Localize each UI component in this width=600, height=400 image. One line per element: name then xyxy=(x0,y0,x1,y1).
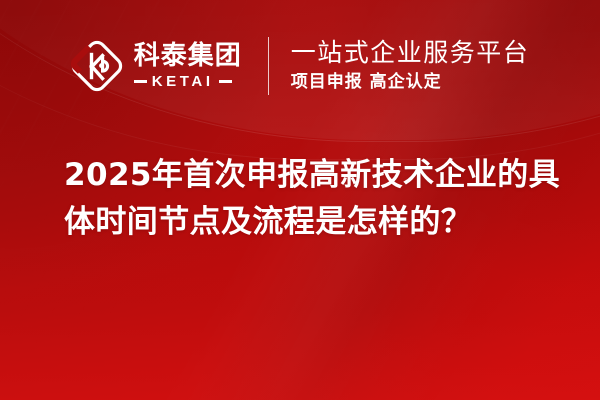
header-tagline: 一站式企业服务平台 项目申报 高企认定 xyxy=(291,39,530,92)
header-inner-row: 科泰集团 KETAI 一站式企业服务平台 项目申报 高企认定 xyxy=(71,37,530,95)
page-title: 2025年首次申报高新技术企业的具体时间节点及流程是怎样的？ xyxy=(64,152,564,246)
logo-wordmark: 科泰集团 KETAI xyxy=(134,43,242,88)
banner-header: 科泰集团 KETAI 一站式企业服务平台 项目申报 高企认定 xyxy=(0,0,600,132)
logo-dash-right-icon xyxy=(219,80,232,83)
tagline-secondary: 项目申报 高企认定 xyxy=(291,72,530,92)
header-vertical-divider xyxy=(268,37,269,95)
logo-company-name-en: KETAI xyxy=(152,74,214,89)
logo-company-name-cn: 科泰集团 xyxy=(134,43,242,70)
logo-company-name-en-row: KETAI xyxy=(134,74,242,89)
promotional-banner: 科泰集团 KETAI 一站式企业服务平台 项目申报 高企认定 2025年首次申报… xyxy=(0,0,600,400)
logo-dash-left-icon xyxy=(134,80,147,83)
ketai-diamond-kp-logo-icon xyxy=(71,40,123,92)
tagline-primary: 一站式企业服务平台 xyxy=(291,39,530,67)
